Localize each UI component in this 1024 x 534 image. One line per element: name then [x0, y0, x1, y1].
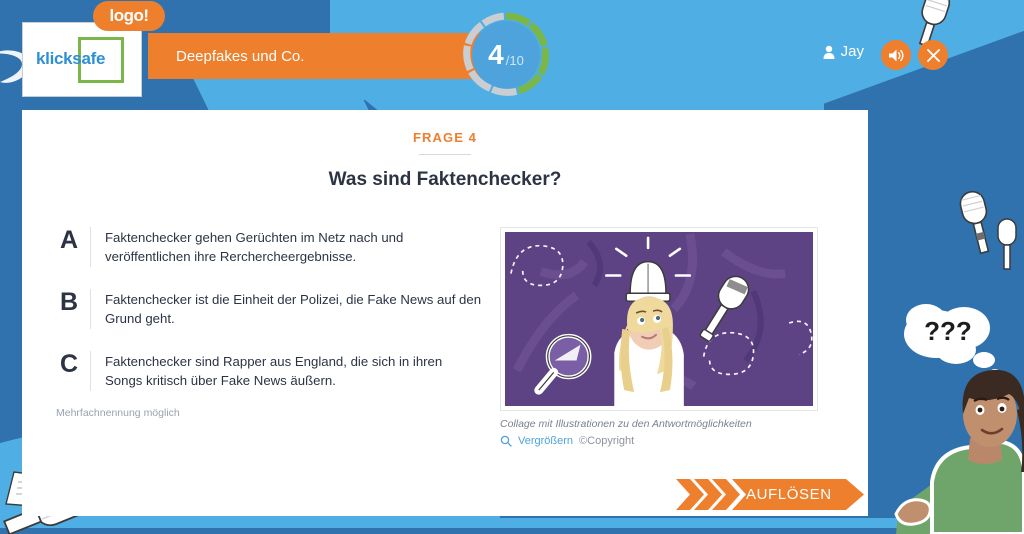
header: klicksafe logo! Deepfakes und Co. 4 /	[0, 0, 1024, 110]
user-name: Jay	[841, 43, 864, 60]
progress-ring: 4 /10	[461, 10, 551, 100]
answer-divider	[90, 227, 91, 267]
background-strip-dark	[0, 528, 1024, 534]
answer-text-c: Faktenchecker sind Rapper aus England, d…	[105, 351, 482, 390]
answer-option-a[interactable]: A Faktenchecker gehen Gerüchten im Netz …	[52, 227, 482, 267]
answer-divider	[90, 351, 91, 391]
progress-current: 4	[488, 39, 504, 71]
answer-option-c[interactable]: C Faktenchecker sind Rapper aus England,…	[52, 351, 482, 391]
answer-divider	[90, 289, 91, 329]
collage-image	[505, 232, 813, 406]
resolve-button[interactable]: AUFLÖSEN	[676, 479, 864, 510]
logo-badge: logo!	[93, 1, 165, 31]
quiz-body: A Faktenchecker gehen Gerüchten im Netz …	[22, 227, 868, 447]
person-illustration	[894, 314, 1024, 534]
answer-text-b: Faktenchecker ist die Einheit der Polize…	[105, 289, 482, 328]
collage-links: Vergrößern ©Copyright	[500, 435, 845, 447]
zoom-link[interactable]: Vergrößern	[518, 435, 573, 447]
chevrons-right-icon	[676, 479, 740, 510]
collage-frame[interactable]	[500, 227, 818, 411]
copyright-label: ©Copyright	[579, 435, 634, 447]
quiz-card: FRAGE 4 Was sind Faktenchecker? A Fakten…	[22, 110, 868, 516]
resolve-button-label: AUFLÖSEN	[746, 479, 832, 510]
media-block: Collage mit Illustrationen zu den Antwor…	[500, 227, 845, 447]
magnifier-icon	[500, 435, 512, 447]
close-icon	[926, 48, 941, 63]
person-icon	[823, 45, 835, 59]
answer-option-b[interactable]: B Faktenchecker ist die Einheit der Poli…	[52, 289, 482, 329]
answer-letter-a: A	[52, 227, 86, 255]
answer-text-a: Faktenchecker gehen Gerüchten im Netz na…	[105, 227, 482, 266]
answer-list: A Faktenchecker gehen Gerüchten im Netz …	[52, 227, 482, 447]
collage-caption: Collage mit Illustrationen zu den Antwor…	[500, 418, 845, 430]
microphone-doodle-icon-3	[990, 215, 1024, 275]
logo-text: klicksafe	[36, 49, 105, 69]
sound-button[interactable]	[881, 40, 911, 70]
question-label: FRAGE 4	[22, 130, 868, 145]
answer-letter-c: C	[52, 351, 86, 379]
multi-select-note: Mehrfachnennung möglich	[52, 407, 482, 419]
klicksafe-logo: klicksafe	[22, 22, 142, 97]
collage-illustration	[505, 232, 813, 406]
quiz-title: Deepfakes und Co.	[148, 48, 304, 65]
question-divider	[419, 154, 471, 155]
question-text: Was sind Faktenchecker?	[22, 169, 868, 191]
answer-letter-b: B	[52, 289, 86, 317]
user-info: Jay	[823, 43, 864, 60]
sound-icon	[888, 48, 905, 63]
close-button[interactable]	[918, 40, 948, 70]
progress-total: /10	[506, 53, 524, 68]
